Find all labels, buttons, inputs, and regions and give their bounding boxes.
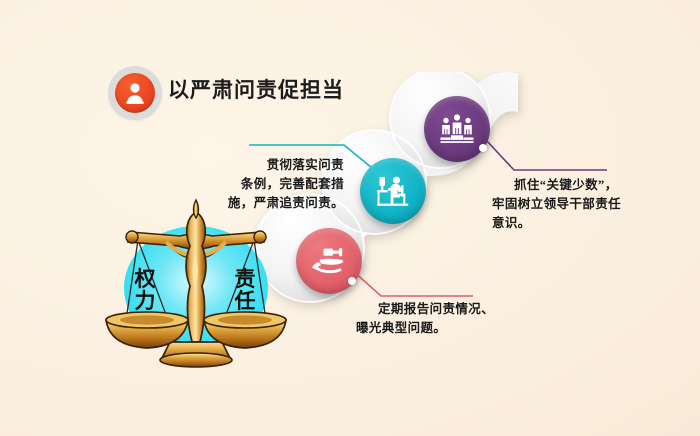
callout-purple-line-1: 抓住“关键少数”， [492,176,660,195]
podium-group-icon [424,96,490,162]
node-red-connector-dot [348,277,356,285]
node-red[interactable] [296,228,362,294]
page-title-block: 以严肃问责促担当 [108,66,348,120]
callout-teal-line-1: 贯彻落实问责 [196,156,344,175]
person-badge-icon [115,73,155,113]
node-purple[interactable] [424,96,490,162]
balance-scale-illustration: 权力 责任 [96,192,296,378]
callout-red-line-1: 定期报告问责情况、 [356,300,528,319]
node-purple-connector-dot [479,144,487,152]
person-at-desk-icon [360,158,426,224]
callout-red: 定期报告问责情况、 曝光典型问题。 [356,300,528,338]
scale-label-left: 权力 [133,268,157,312]
page-title: 以严肃问责促担当 [168,74,344,104]
node-teal[interactable] [360,158,426,224]
scale-label-right: 责任 [233,268,257,312]
callout-purple-line-3: 意识。 [492,214,660,233]
callout-purple: 抓住“关键少数”， 牢固树立领导干部责任 意识。 [492,176,660,233]
callout-red-line-2: 曝光典型问题。 [356,319,528,338]
title-badge [108,66,162,120]
infographic-canvas: 以严肃问责促担当 贯彻落实问责 条例，完善配套措 施，严肃追责问责。 抓住“关键… [0,0,700,436]
callout-purple-line-2: 牢固树立领导干部责任 [492,195,660,214]
